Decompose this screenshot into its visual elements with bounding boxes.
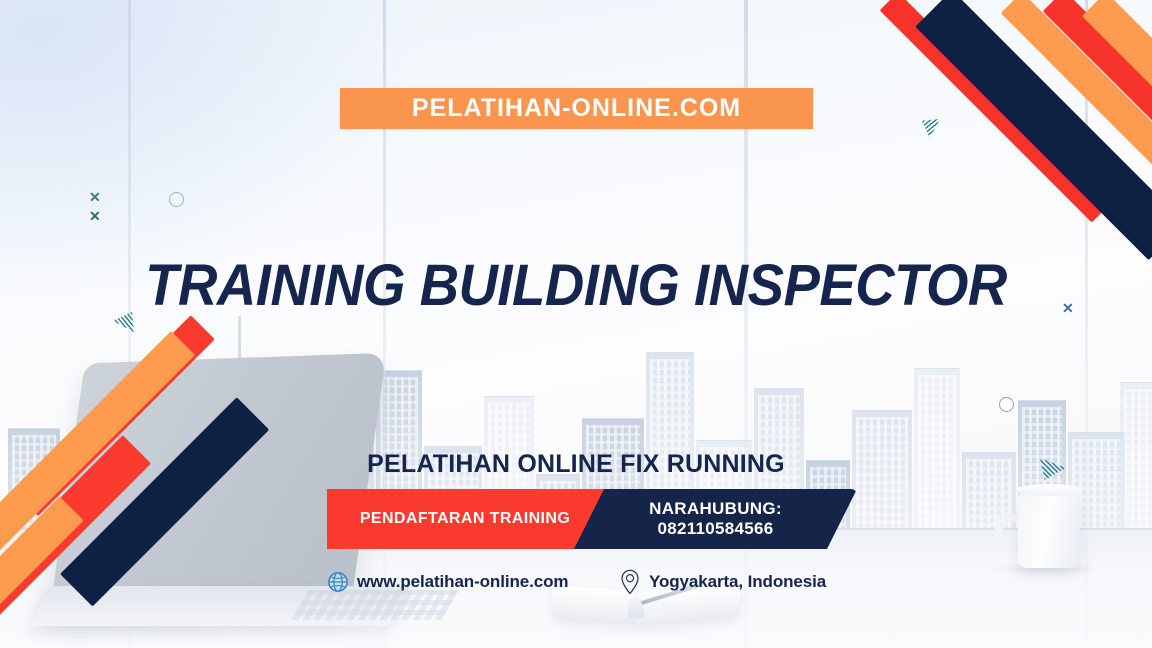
coffee-mug-icon bbox=[1018, 493, 1080, 568]
map-pin-icon bbox=[619, 569, 641, 595]
contact-row: www.pelatihan-online.com Yogyakarta, Ind… bbox=[327, 566, 867, 598]
globe-icon bbox=[327, 571, 349, 593]
registration-banner[interactable]: PENDAFTARAN TRAINING bbox=[327, 489, 619, 549]
book-spine bbox=[628, 596, 644, 618]
x-mark-icon: ✕ bbox=[89, 190, 101, 204]
subtitle: PELATIHAN ONLINE FIX RUNNING bbox=[0, 450, 1152, 479]
page-title: TRAINING BUILDING INSPECTOR bbox=[35, 252, 1118, 319]
website-header-bar: PELATIHAN-ONLINE.COM bbox=[340, 88, 813, 129]
circle-outline-icon bbox=[169, 192, 184, 207]
website-text: www.pelatihan-online.com bbox=[357, 572, 568, 592]
x-mark-icon: ✕ bbox=[89, 209, 101, 223]
website-contact-item[interactable]: www.pelatihan-online.com bbox=[327, 571, 619, 593]
registration-label: PENDAFTARAN TRAINING bbox=[360, 510, 570, 528]
contact-phone[interactable]: 082110584566 bbox=[657, 518, 773, 539]
poster-canvas: ✕ ✕ ✕ PELATIHAN-ONLINE.COM TRAINING BUIL… bbox=[0, 0, 1152, 648]
location-contact-item: Yogyakarta, Indonesia bbox=[619, 569, 826, 595]
circle-outline-icon bbox=[999, 397, 1014, 412]
location-text: Yogyakarta, Indonesia bbox=[649, 572, 826, 592]
contact-banner[interactable]: NARAHUBUNG: 082110584566 bbox=[574, 489, 857, 549]
mug-rim bbox=[1016, 484, 1082, 496]
banner-row: PENDAFTARAN TRAINING NARAHUBUNG: 0821105… bbox=[327, 489, 857, 549]
website-header-text: PELATIHAN-ONLINE.COM bbox=[412, 94, 741, 123]
contact-label: NARAHUBUNG: bbox=[649, 499, 782, 519]
